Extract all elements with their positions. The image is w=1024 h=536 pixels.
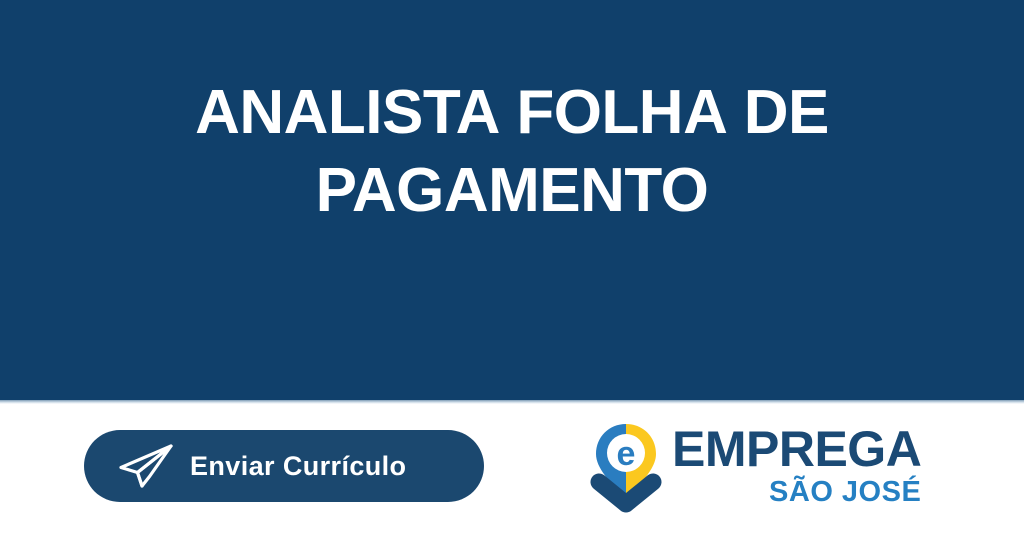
send-resume-label: Enviar Currículo <box>190 451 406 482</box>
brand-logo[interactable]: e EMPREGA SÃO JOSÉ <box>588 418 932 518</box>
brand-name-primary: EMPREGA <box>672 424 921 474</box>
map-pin-e-logo-icon: e <box>588 420 664 516</box>
page-title: ANALISTA FOLHA DE PAGAMENTO <box>162 74 862 230</box>
brand-name-secondary: SÃO JOSÉ <box>769 476 921 509</box>
hero-band: ANALISTA FOLHA DE PAGAMENTO <box>0 0 1024 400</box>
send-resume-button[interactable]: Enviar Currículo <box>84 430 484 502</box>
paper-plane-icon <box>114 442 176 490</box>
brand-wordmark: EMPREGA SÃO JOSÉ <box>672 418 921 509</box>
job-posting-banner: ANALISTA FOLHA DE PAGAMENTO Enviar Currí… <box>0 0 1024 536</box>
logo-letter-e: e <box>617 435 636 473</box>
